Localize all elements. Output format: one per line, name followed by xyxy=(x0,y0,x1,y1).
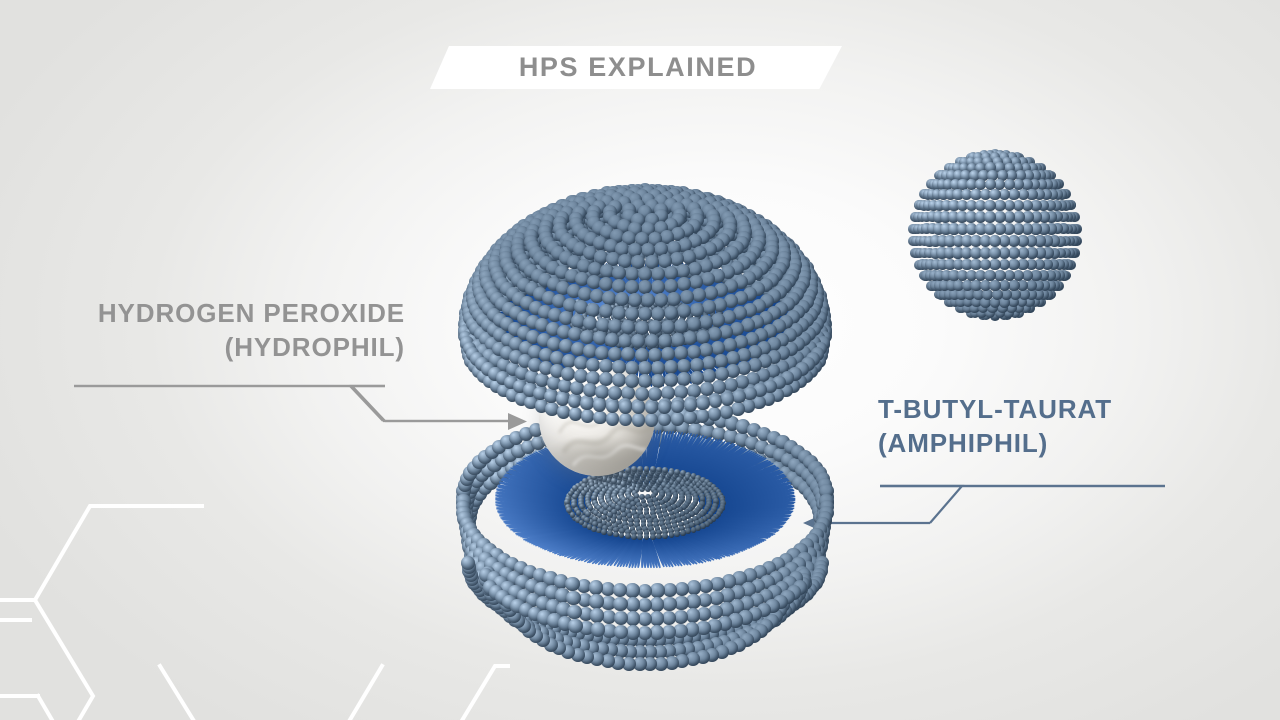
core-bead xyxy=(691,527,697,533)
bowl-front-head-bead xyxy=(614,611,628,625)
rim-head-bead xyxy=(632,413,646,427)
dome-head-bead xyxy=(661,320,675,334)
core-bead xyxy=(637,534,643,540)
bowl-front-head-bead xyxy=(591,622,605,636)
rim-head-bead xyxy=(732,390,746,404)
dome-head-bead xyxy=(700,382,714,396)
dome-head-bead xyxy=(595,346,609,360)
label-left-line2: (HYDROPHIL) xyxy=(0,330,405,364)
rim-head-bead xyxy=(696,397,710,411)
core-bead xyxy=(674,531,680,537)
bowl-front-head-bead xyxy=(590,608,604,622)
dome-head-bead xyxy=(635,387,649,401)
micelle-head-bead xyxy=(984,211,996,223)
dome-head-bead xyxy=(608,386,622,400)
bowl-front-head-bead xyxy=(589,580,603,594)
dome-head-bead xyxy=(612,266,626,280)
core-bead xyxy=(680,530,686,536)
micelle-head-bead xyxy=(984,200,996,212)
dome-head-bead xyxy=(625,267,639,281)
rim-head-bead xyxy=(708,407,722,421)
dome-head-bead xyxy=(664,266,678,280)
rim-head-bead xyxy=(720,405,734,419)
dome-head-bead xyxy=(612,279,626,293)
illustration-stage: HPS EXPLAINED HYD xyxy=(0,0,1280,720)
rim-head-bead xyxy=(580,397,594,411)
micelle-head-bead xyxy=(1008,189,1019,200)
core-bead xyxy=(631,534,637,540)
dome-head-bead xyxy=(723,338,737,352)
dome-head-bead xyxy=(690,358,704,372)
micelle-head-bead xyxy=(989,280,1000,291)
bowl-front-head-bead xyxy=(638,584,652,598)
dome-head-bead xyxy=(645,334,659,348)
dome-head-bead xyxy=(664,306,678,320)
dome-head-bead xyxy=(711,341,725,355)
bowl-front-head-bead xyxy=(589,594,603,608)
dome-head-bead xyxy=(625,280,639,294)
bowl-front-head-bead xyxy=(625,583,639,597)
dome-head-bead xyxy=(648,387,662,401)
dome-head-bead xyxy=(612,306,626,320)
label-hydrogen-peroxide: HYDROGEN PEROXIDE (HYDROPHIL) xyxy=(0,296,405,365)
rim-head-bead xyxy=(671,412,685,426)
rim-head-bead xyxy=(606,400,620,414)
dome-head-bead xyxy=(688,262,702,276)
bowl-front-head-bead xyxy=(662,597,676,611)
dome-head-bead xyxy=(635,321,649,335)
micelle-head-bead xyxy=(984,223,996,235)
dome-head-bead xyxy=(599,277,613,291)
bowl-front-head-bead xyxy=(650,583,664,597)
bowl-front-head-bead xyxy=(613,597,627,611)
bowl-front-head-bead xyxy=(663,583,677,597)
micelle-head-bead xyxy=(984,270,995,281)
bowl-front-head-bead xyxy=(626,625,640,639)
rim-head-bead xyxy=(606,412,620,426)
rim-head-bead xyxy=(684,398,698,412)
bowl-front-head-bead xyxy=(650,597,664,611)
core-bead xyxy=(650,534,656,540)
dome-head-bead xyxy=(715,367,729,381)
dome-head-bead xyxy=(671,333,685,347)
micelle-head-bead xyxy=(980,259,992,271)
dome-head-bead xyxy=(667,292,681,306)
label-left-line1: HYDROGEN PEROXIDE xyxy=(0,296,405,330)
dome-head-bead xyxy=(701,272,715,286)
dome-head-bead xyxy=(648,348,662,362)
core-bead xyxy=(669,532,675,538)
dome-head-bead xyxy=(625,374,639,388)
dome-head-bead xyxy=(651,307,665,321)
bowl-front-head-bead xyxy=(650,611,664,625)
core-bead xyxy=(625,533,631,539)
rim-head-bead xyxy=(619,400,633,414)
dome-head-bead xyxy=(726,351,740,365)
label-t-butyl-taurat: T-BUTYL-TAURAT (AMPHIPHIL) xyxy=(878,392,1208,461)
core-bead xyxy=(650,466,656,472)
bowl-front-head-bead xyxy=(687,580,701,594)
dome-head-bead xyxy=(618,334,632,348)
dome-head-bead xyxy=(702,300,716,314)
core-bead xyxy=(587,524,593,530)
label-right-line2: (AMPHIPHIL) xyxy=(878,426,1208,460)
rim-head-bead xyxy=(683,411,697,425)
dome-head-bead xyxy=(635,348,649,362)
micelle-head-bead xyxy=(989,189,1000,200)
dome-head-bead xyxy=(625,361,639,375)
dome-head-bead xyxy=(696,330,710,344)
bowl-front-head-bead xyxy=(638,598,652,612)
core-bead xyxy=(695,525,701,531)
dome-head-bead xyxy=(599,359,613,373)
dome-head-bead xyxy=(687,345,701,359)
dome-head-bead xyxy=(690,371,704,385)
micelle-head-bead xyxy=(989,235,1001,247)
core-bead xyxy=(607,530,613,536)
rim-head-bead xyxy=(731,402,745,416)
rim-head-bead xyxy=(645,413,659,427)
dome-head-bead xyxy=(638,307,652,321)
micelle-head-bead xyxy=(989,247,1001,259)
dome-head-bead xyxy=(664,279,678,293)
rim-head-bead xyxy=(593,398,607,412)
dome-head-bead xyxy=(651,267,665,281)
dome-head-bead xyxy=(651,280,665,294)
dome-head-bead xyxy=(595,385,609,399)
core-bead xyxy=(613,532,619,538)
dome-head-bead xyxy=(658,334,672,348)
micelle-head-bead xyxy=(1008,247,1020,259)
rim-head-bead xyxy=(593,411,607,425)
core-bead xyxy=(591,526,597,532)
pearl-shadow xyxy=(546,434,648,473)
core-bead xyxy=(662,533,668,539)
dome-head-bead xyxy=(612,360,626,374)
dome-head-bead xyxy=(625,307,639,321)
dome-head-bead xyxy=(586,358,600,372)
bowl-front-head-bead xyxy=(568,619,582,633)
rim-head-bead xyxy=(721,392,735,406)
label-right-line1: T-BUTYL-TAURAT xyxy=(878,392,1208,426)
dome-head-bead xyxy=(638,280,652,294)
rim-head-bead xyxy=(696,409,710,423)
dome-head-bead xyxy=(690,303,704,317)
dome-head-bead xyxy=(687,317,701,331)
dome-head-bead xyxy=(674,319,688,333)
